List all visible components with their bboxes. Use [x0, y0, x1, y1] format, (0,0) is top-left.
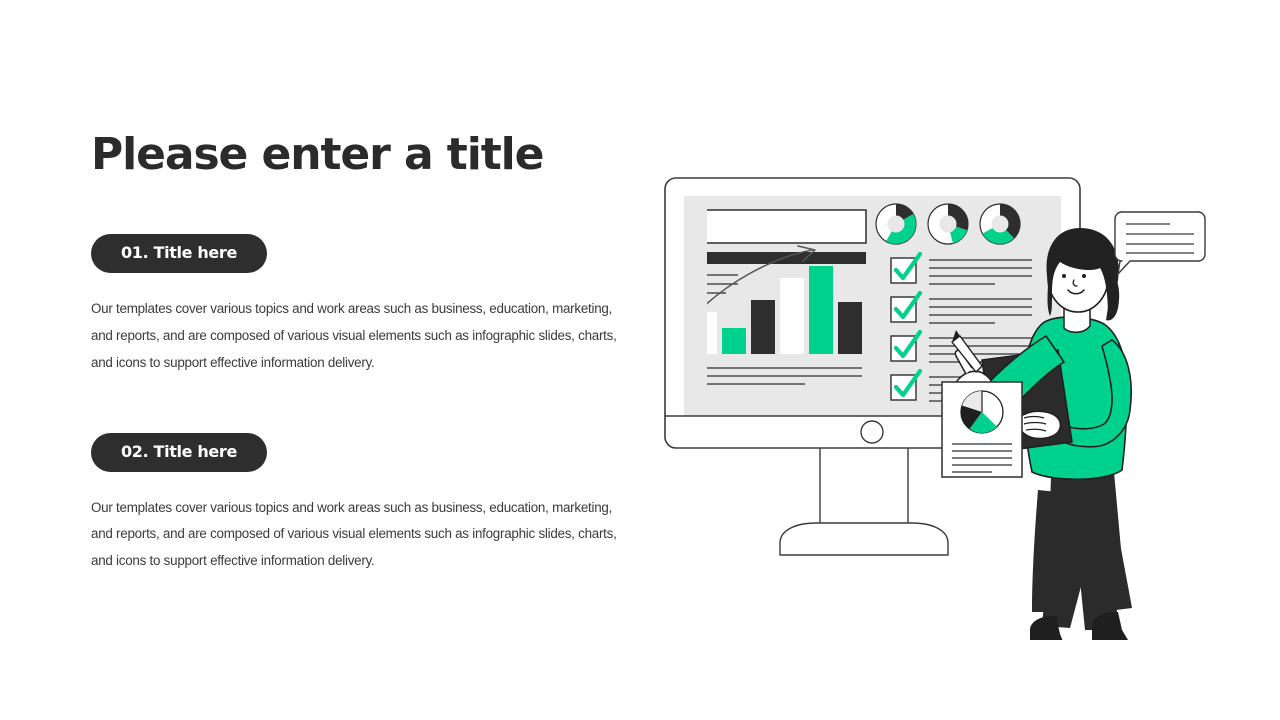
monitor-stand	[780, 447, 948, 555]
speech-bubble	[1115, 212, 1205, 274]
dashboard-illustration	[660, 160, 1230, 640]
screen-title-bar	[693, 252, 866, 264]
donut-chart-2	[928, 204, 968, 244]
eye-left	[1062, 274, 1066, 278]
section-badge-02[interactable]: 02. Title here	[91, 433, 267, 472]
screen-input-box	[693, 210, 866, 243]
section-01: 01. Title here Our templates cover vario…	[91, 234, 651, 376]
section-body-01: Our templates cover various topics and w…	[91, 296, 636, 376]
eye-right	[1082, 274, 1086, 278]
donut-chart-3	[980, 204, 1020, 244]
hand-holding-tablet	[1018, 411, 1061, 438]
slide-root: Please enter a title 01. Title here Our …	[0, 0, 1280, 720]
content-column: Please enter a title 01. Title here Our …	[91, 132, 651, 575]
page-title: Please enter a title	[91, 132, 651, 178]
section-02: 02. Title here Our templates cover vario…	[91, 433, 651, 575]
section-body-02: Our templates cover various topics and w…	[91, 495, 636, 575]
document-card	[942, 382, 1022, 477]
section-badge-01[interactable]: 01. Title here	[91, 234, 267, 273]
donut-chart-1	[876, 204, 916, 244]
document-card-pie-chart	[961, 391, 1003, 433]
camera-dot-icon	[861, 421, 883, 443]
